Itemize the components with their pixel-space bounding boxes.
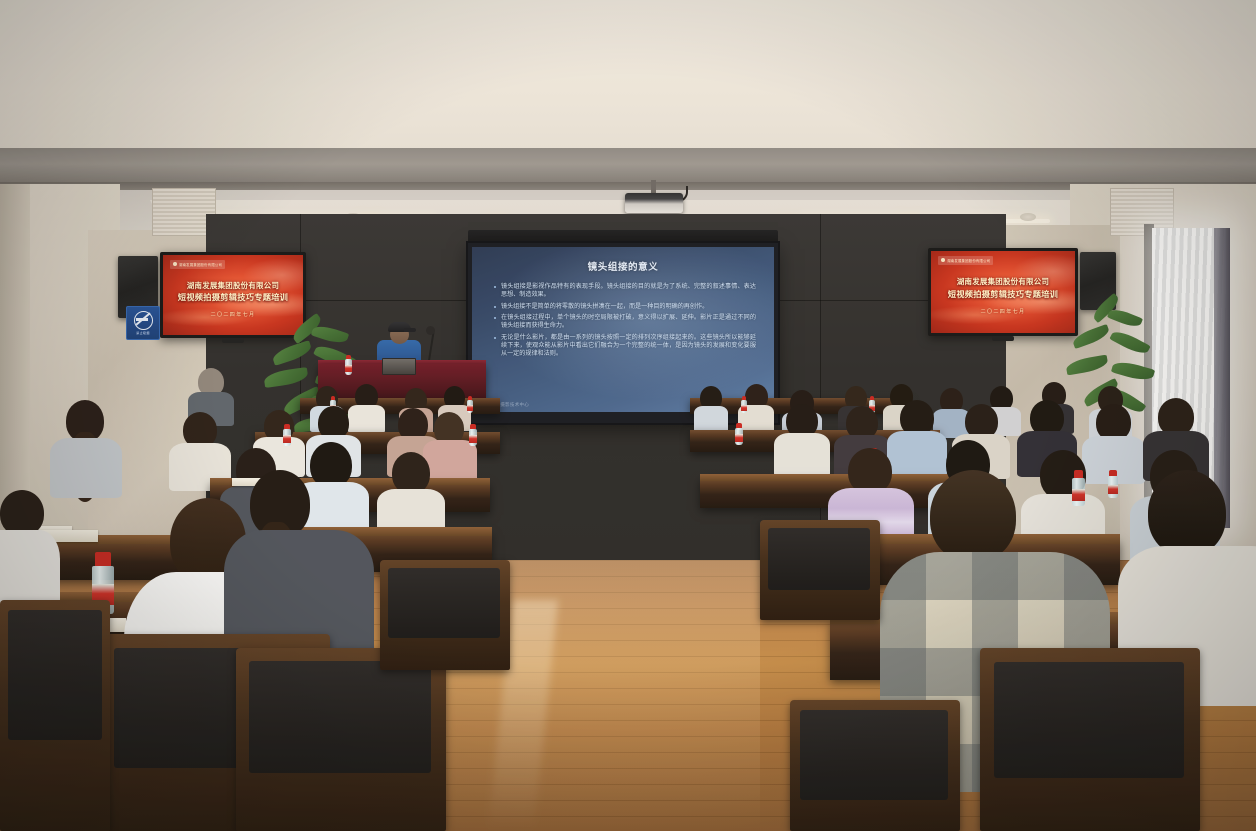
presenter-laptop [382,358,416,375]
slide-bullet: 无论是什么影片，都是由一系列的镜头按照一定的排列次序组接起来的。这些镜头所以能够… [494,334,756,359]
company-logo-badge: 湖南发展集团股份有限公司 [938,256,993,265]
chair [236,648,446,831]
microphone-icon [426,326,435,335]
water-bottle [283,424,291,446]
water-bottle [469,424,477,446]
led-display-right: 湖南发展集团股份有限公司 湖南发展集团股份有限公司 短视频拍摄剪辑技巧专题培训 … [928,248,1078,336]
ceiling-upper-slab [0,0,1256,150]
smoke-detector [1020,213,1036,221]
presenter-cap [388,322,411,332]
slide-body: 镜头组接是影视作品特有的表现手段。镜头组接的目的就是为了系统、完整的叙述事情、表… [494,283,756,361]
water-bottle [1072,470,1085,506]
led-display-right-screen: 湖南发展集团股份有限公司 湖南发展集团股份有限公司 短视频拍摄剪辑技巧专题培训 … [931,251,1075,333]
no-smoking-sign: 禁止吸烟 [126,306,160,340]
slide-title: 镜头组接的意义 [472,259,774,273]
water-bottle [467,396,473,413]
no-smoking-label: 禁止吸烟 [136,331,150,335]
led-display-right-stand [992,336,1014,341]
led-date: 二〇二四年七月 [163,311,303,318]
led-display-left-stand [222,338,244,343]
led-headline-topic: 短视频拍摄剪辑技巧专题培训 [163,291,303,303]
chair [760,520,880,620]
logo-text: 湖南发展集团股份有限公司 [947,258,990,263]
led-headline-company: 湖南发展集团股份有限公司 [931,276,1075,287]
logo-text: 湖南发展集团股份有限公司 [179,262,222,267]
chair [380,560,510,670]
chair [790,700,960,831]
slide-bullet: 镜头组接不是简单的将零散的镜头拼凑在一起，而是一种目的明确的再创作。 [494,303,756,311]
led-date: 二〇二四年七月 [931,308,1075,315]
ceiling-beam [0,148,1256,184]
projection-screen: 镜头组接的意义 镜头组接是影视作品特有的表现手段。镜头组接的目的就是为了系统、完… [472,247,774,412]
window-curtain-edge [1214,228,1230,528]
logo-mark-icon [173,262,177,266]
chair [980,648,1200,831]
led-headline-company: 湖南发展集团股份有限公司 [163,280,303,291]
water-bottle [735,423,743,445]
ceiling-projector [625,193,683,213]
water-bottle [1108,470,1118,498]
conference-room-photo: 镜头组接的意义 镜头组接是影视作品特有的表现手段。镜头组接的目的就是为了系统、完… [0,0,1256,831]
slide-bullet: 在镜头组接过程中，单个镜头的时空局限被打破，意义得以扩展、延伸。影片正是通过不同… [494,314,756,330]
water-bottle [741,396,747,413]
water-bottle [345,355,352,375]
no-smoking-icon [134,311,153,330]
company-logo-badge: 湖南发展集团股份有限公司 [170,260,225,269]
slide-bullet: 镜头组接是影视作品特有的表现手段。镜头组接的目的就是为了系统、完整的叙述事情、表… [494,283,756,299]
logo-mark-icon [941,258,945,262]
led-headline-topic: 短视频拍摄剪辑技巧专题培训 [931,288,1075,300]
chair [0,600,110,831]
